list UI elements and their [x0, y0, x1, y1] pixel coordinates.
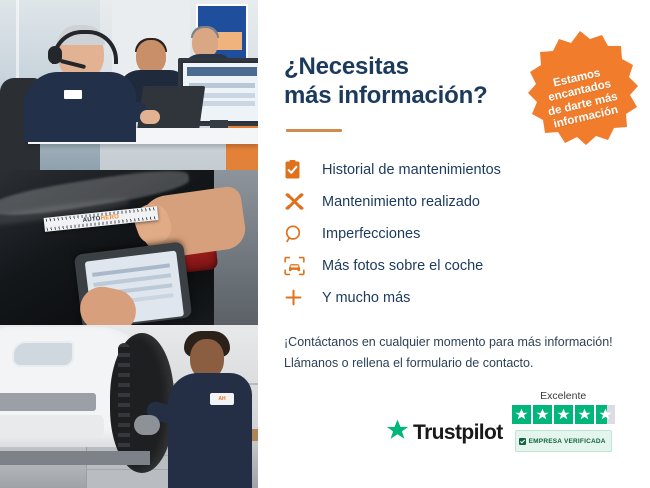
trustpilot-wordmark: Trustpilot — [413, 421, 503, 445]
mechanic: AH — [162, 331, 258, 488]
star-filled-4 — [575, 405, 594, 424]
list-item: Historial de mantenimientos — [284, 154, 626, 186]
car-headlight — [12, 341, 74, 367]
trustpilot-rating[interactable]: Trustpilot Excelente — [386, 390, 615, 452]
second-agent-head — [136, 40, 166, 74]
car-lift-ramp — [0, 451, 150, 465]
status-badge: EMPRESA VERIFICADA — [515, 430, 612, 452]
feature-label: Imperfecciones — [322, 226, 420, 242]
wheel-tread — [118, 343, 130, 463]
call-centre-agents-photo — [0, 0, 258, 170]
star-rating — [512, 405, 615, 424]
rating-label: Excelente — [540, 390, 586, 402]
verified-check-icon — [519, 432, 526, 450]
feature-label: Historial de mantenimientos — [322, 162, 501, 178]
car-inspection-tablet-photo: AUTOHERO — [0, 170, 258, 325]
page-title: ¿Necesitas más información? — [284, 52, 534, 111]
car-bumper — [0, 415, 104, 437]
workshop-wheel-check-photo: AH — [0, 325, 258, 488]
star-filled-1 — [512, 405, 531, 424]
feature-label: Y mucho más — [322, 290, 410, 306]
list-item: Más fotos sobre el coche — [284, 250, 626, 282]
call-agent — [24, 28, 136, 138]
contact-line-2: Llámanos o rellena el formulario de cont… — [284, 353, 626, 375]
headline-line-1: ¿Necesitas — [284, 53, 409, 80]
headline-line-2: más información? — [284, 82, 488, 109]
feature-label: Más fotos sobre el coche — [322, 258, 483, 274]
list-item: Mantenimiento realizado — [284, 186, 626, 218]
clipboard-check-icon — [284, 157, 316, 183]
plus-icon — [284, 285, 316, 311]
title-divider — [286, 129, 342, 132]
verified-label: EMPRESA VERIFICADA — [529, 438, 606, 445]
mechanic-body — [168, 373, 252, 488]
ruler-brand-text: AUTOHERO — [82, 214, 119, 224]
badge-text: Estamos encantados de darte más informac… — [525, 61, 638, 135]
agent-name-badge — [64, 90, 82, 99]
star-filled-3 — [554, 405, 573, 424]
contact-line-1: ¡Contáctanos en cualquier momento para m… — [284, 332, 626, 354]
trustpilot-star-icon — [386, 419, 409, 446]
car-scan-icon — [284, 253, 316, 279]
tools-cross-icon — [284, 189, 316, 215]
list-item: Y mucho más — [284, 282, 626, 314]
contact-copy: ¡Contáctanos en cualquier momento para m… — [284, 332, 626, 375]
status-badge-starburst: Estamos encantados de darte más informac… — [518, 30, 642, 154]
content-panel: ¿Necesitas más información? Historial de… — [258, 0, 650, 488]
photo-strip: AUTOHERO AH — [0, 0, 258, 488]
trustpilot-logo[interactable]: Trustpilot — [386, 419, 503, 452]
feature-list: Historial de mantenimientos M — [284, 154, 626, 314]
car-grille — [0, 393, 96, 411]
feature-label: Mantenimiento realizado — [322, 194, 480, 210]
more-information-banner: AUTOHERO AH — [0, 0, 650, 488]
mechanic-uniform-badge: AH — [210, 393, 234, 405]
agent-hand — [140, 110, 160, 124]
star-filled-2 — [533, 405, 552, 424]
star-partial-5 — [596, 405, 615, 424]
mechanic-glove — [134, 415, 160, 435]
list-item: Imperfecciones — [284, 218, 626, 250]
magnifier-icon — [284, 221, 316, 247]
trustpilot-score-block: Excelente — [512, 390, 615, 452]
